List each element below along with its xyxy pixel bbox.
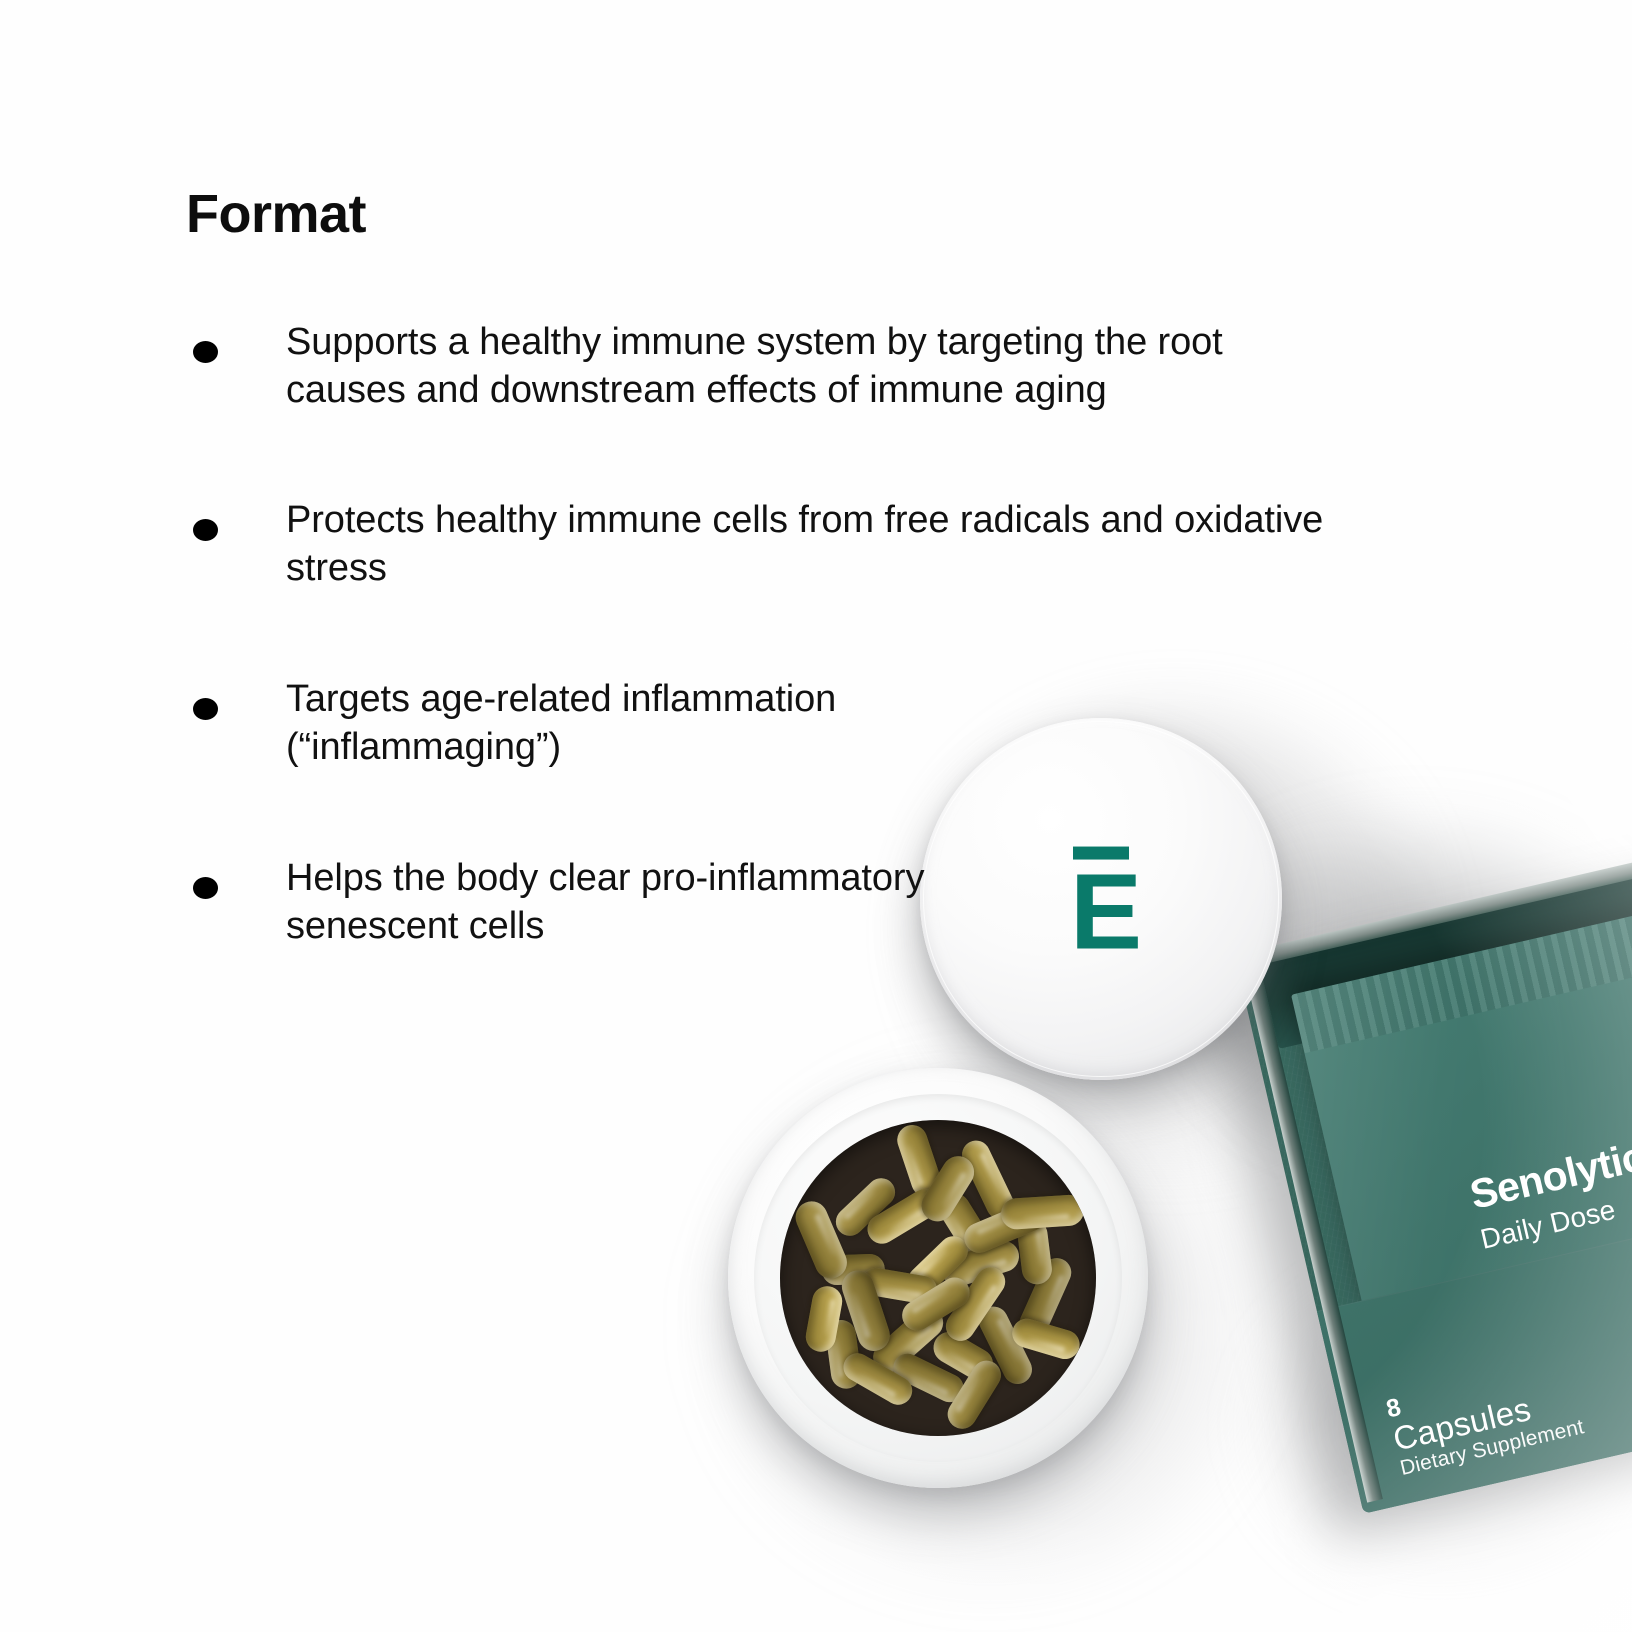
slide-canvas: Format Supports a healthy immune system … (0, 0, 1632, 1632)
bullet-point-icon (193, 519, 218, 541)
capsule (1000, 1194, 1085, 1230)
list-item: Protects healthy immune cells from free … (186, 497, 1366, 593)
list-item-label: Supports a healthy immune system by targ… (286, 319, 1346, 415)
list-item-label: Helps the body clear pro-inflammatory se… (286, 855, 986, 951)
list-item: Targets age-related inflammation (“infla… (186, 676, 1366, 772)
carton-copy-block: 8 Capsules Dietary Supplement (1384, 1355, 1586, 1480)
capsule-pile (780, 1120, 1096, 1436)
benefits-list: Supports a healthy immune system by targ… (186, 319, 1366, 951)
bullet-point-icon (193, 341, 218, 363)
text-column: Format Supports a healthy immune system … (186, 186, 1366, 951)
list-item: Supports a healthy immune system by targ… (186, 319, 1366, 415)
capsule-jar (728, 1068, 1148, 1488)
list-item: Helps the body clear pro-inflammatory se… (186, 855, 1366, 951)
list-item-label: Targets age-related inflammation (“infla… (286, 676, 986, 772)
page-title: Format (186, 186, 1366, 243)
bullet-point-icon (193, 877, 218, 899)
jar-opening (780, 1120, 1096, 1436)
bullet-point-icon (193, 698, 218, 720)
list-item-label: Protects healthy immune cells from free … (286, 497, 1346, 593)
